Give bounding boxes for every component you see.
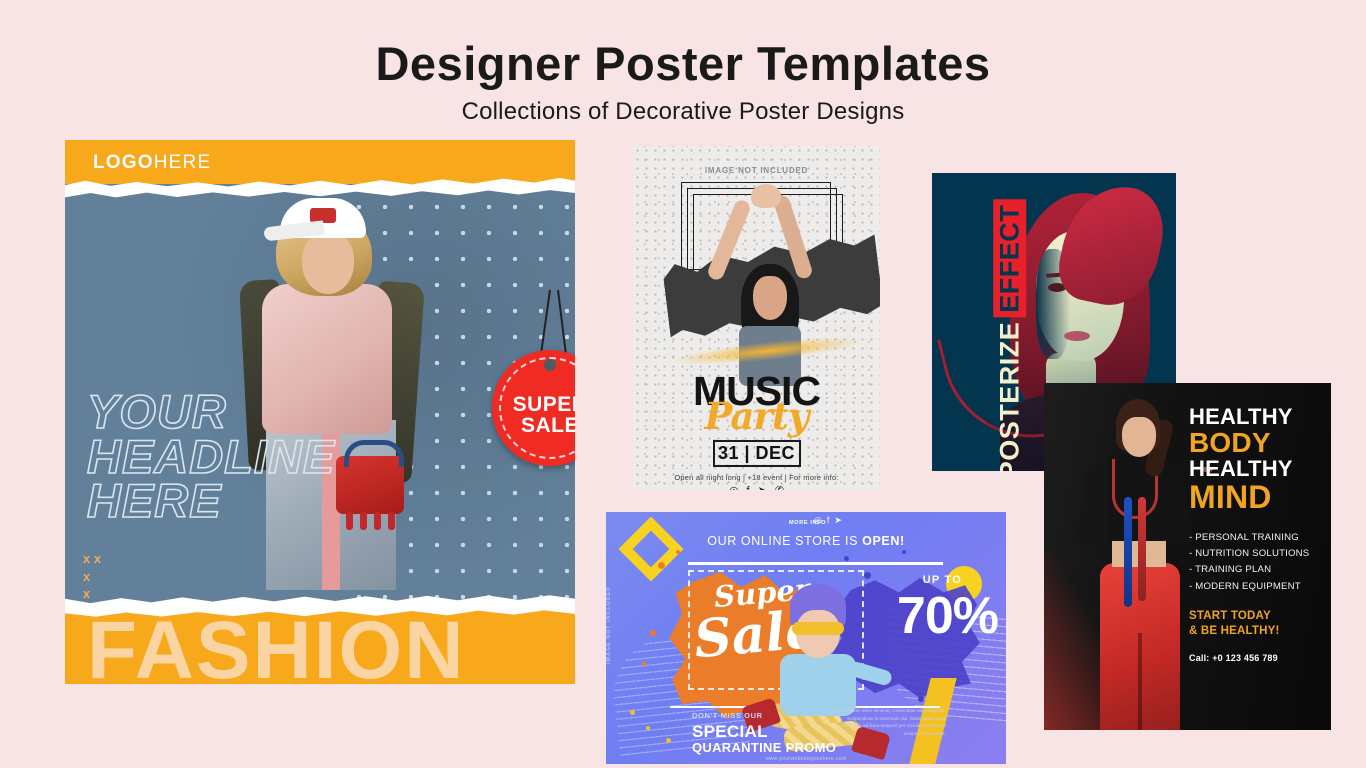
effect-word: EFFECT [993,200,1026,318]
headline-line-1: HEALTHY [1189,405,1323,428]
tag-hole [544,359,556,371]
twitter-icon[interactable]: ➤ [834,516,842,525]
handbag [336,456,404,514]
store-open-prefix: OUR ONLINE STORE IS [707,534,862,548]
instagram-icon[interactable]: ◎ [814,516,822,525]
headline-line-3: HEALTHY [1189,457,1323,480]
event-info-text: Open all night long | +18 event | For mo… [633,473,880,482]
website-url[interactable]: www.yourwebsitegoeshere.com [606,756,1006,762]
fashion-headline: YOUR HEADLINE HERE [87,390,335,524]
contact-phone: Call: +0 123 456 789 [1189,653,1323,663]
bag-tassel [360,512,367,530]
fashion-title: FASHION [87,610,465,684]
fitness-copy-block: HEALTHY BODY HEALTHY MIND - PERSONAL TRA… [1189,405,1323,663]
whatsapp-icon[interactable]: ✆ [775,486,784,490]
twitter-icon[interactable]: ➤ [758,486,767,490]
discount-percent: 70% [897,586,998,646]
poster-music-party[interactable]: IMAGE NOT INCLUDED MUSIC Party 31 | DEC … [633,146,880,490]
call-to-action: START TODAY & BE HEALTHY! [1189,609,1323,641]
cta-line-1: START TODAY [1189,609,1323,625]
sale-social-icons[interactable]: ◎ f ➤ [814,516,842,525]
bag-tassel [374,512,381,530]
leggings-seam [1138,633,1142,730]
facebook-icon[interactable]: f [747,486,750,490]
image-watermark: IMAGE NOT INCLUDED [633,166,880,175]
top-rule-line [688,562,943,565]
poster-fashion[interactable]: LOGOHERE YOUR HEADLINE HERE x x x x FASH… [65,140,575,684]
up-to-label: UP TO [923,574,962,586]
poster-super-sale[interactable]: MORE INFO ◎ f ➤ OUR ONLINE STORE IS OPEN… [606,512,1006,764]
cta-line-2: & BE HEALTHY! [1189,624,1323,640]
posterize-label: POSTERIZE EFFECT [993,200,1026,471]
bag-tassel [388,512,395,530]
model-face [302,232,354,294]
badge-line-1: SUPER [513,394,575,415]
list-item: - MODERN EQUIPMENT [1189,579,1323,595]
badge-line-2: SALE [521,415,575,436]
model-face [753,276,787,320]
service-list: - PERSONAL TRAINING - NUTRITION SOLUTION… [1189,530,1323,594]
posterize-word: POSTERIZE [994,322,1025,471]
model-sunglasses [792,622,844,635]
page-subtitle: Collections of Decorative Poster Designs [0,98,1366,126]
lorem-paragraph: Lorem ipsum dolor sit amet, consectetur … [834,707,946,738]
list-item: - PERSONAL TRAINING [1189,530,1323,546]
music-social-icons[interactable]: ◎ f ➤ ✆ [633,486,880,490]
model-hands [751,184,781,208]
logo-thin-part: HERE [154,152,212,173]
headline-line-2: BODY [1189,428,1323,457]
store-open-headline: OUR ONLINE STORE IS OPEN! [606,534,1006,548]
list-item: - NUTRITION SOLUTIONS [1189,546,1323,562]
lips [1064,331,1090,341]
decor-x-marks: x x x x [83,550,101,603]
instagram-icon[interactable]: ◎ [729,486,739,490]
headline-line-4: MIND [1189,481,1323,515]
music-subtitle: Party [633,394,880,438]
fashion-logo: LOGOHERE [93,152,211,174]
image-watermark: IMAGE NOT INCLUDED [606,586,612,664]
model-face [1122,417,1156,457]
page-title: Designer Poster Templates [0,40,1366,88]
jump-rope-handle-blue [1124,497,1132,607]
dont-miss-label: DON'T MISS OUR [692,711,763,720]
bag-tassel [346,512,353,530]
logo-bold-part: LOGO [93,152,154,173]
store-open-bold: OPEN! [862,534,905,548]
music-model-illustration [721,186,817,346]
facebook-icon[interactable]: f [827,516,830,525]
event-date-box: 31 | DEC [713,440,801,467]
model-cap [280,198,366,238]
page-header: Designer Poster Templates Collections of… [0,0,1366,126]
poster-healthy-body[interactable]: HEALTHY BODY HEALTHY MIND - PERSONAL TRA… [1044,383,1331,730]
jump-rope-handle-red [1138,497,1146,601]
cap-logo [310,208,336,223]
special-label: SPECIAL [692,723,768,740]
list-item: - TRAINING PLAN [1189,562,1323,578]
quarantine-promo-label: QUARANTINE PROMO [692,741,836,754]
